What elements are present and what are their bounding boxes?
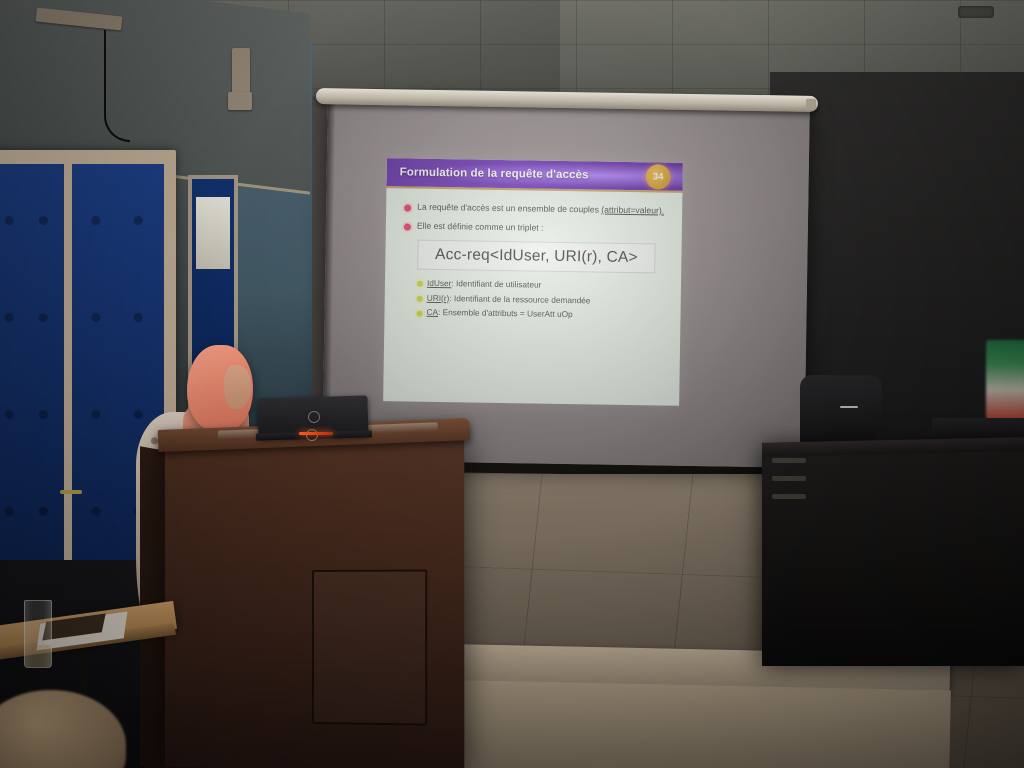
sub-item-uri-text: URI(r): Identifiant de la ressource dema… [427,292,591,305]
office-desk[interactable] [762,446,1024,666]
bullet-dot-icon [404,223,411,230]
window-light [196,197,230,269]
formula-box: Acc-req<IdUser, URI(r), CA> [417,239,655,273]
sub-item-ca-term: CA [426,307,438,317]
slide-bullet-2: Elle est définie comme un triplet : [404,220,664,236]
presenter-head [187,345,253,423]
slide-bullet-1: La requête d'accès est un ensemble de co… [404,201,664,217]
bullet-2-text: Elle est définie comme un triplet : [417,221,544,235]
sub-item-iduser-def: : Identifiant de utilisateur [451,278,541,289]
sub-item-uri-term: URI(r) [427,292,450,302]
chair-highlight [840,406,858,408]
glass-contents [25,645,51,667]
hp-logo-icon [308,411,320,423]
bullet-1-text: La requête d'accès est un ensemble de co… [417,202,664,218]
sub-item-iduser-text: IdUser: Identifiant de utilisateur [427,278,542,291]
slide-title-bar: Formulation de la requête d'accès 34 [386,158,682,193]
lectern-front-panel [312,570,427,726]
presenter-face [224,365,251,409]
bullet-dot-icon [404,204,411,211]
wall-switch-icon [232,48,250,94]
sub-item-uri: URI(r): Identifiant de la ressource dema… [417,292,663,307]
door-handle-icon[interactable] [60,490,82,494]
slide-sub-list: IdUser: Identifiant de utilisateur URI(r… [416,277,663,321]
sub-bullet-dot-icon [417,281,423,287]
sub-item-iduser-term: IdUser [427,278,452,288]
status-led-indicator [299,432,333,435]
flag [986,340,1024,420]
office-chair[interactable] [800,375,882,445]
sub-bullet-dot-icon [416,310,422,316]
projected-slide: Formulation de la requête d'accès 34 La … [383,158,683,406]
slide-body: La requête d'accès est un ensemble de co… [384,188,682,322]
formula-text: Acc-req<IdUser, URI(r), CA> [435,246,638,266]
projection-screen: Formulation de la requête d'accès 34 La … [322,100,810,468]
slide-title: Formulation de la requête d'accès [400,166,589,181]
door-leaf-left[interactable] [0,164,64,568]
ceiling-vent-icon [958,6,994,18]
bullet-1-line-1: La requête d'accès est un ensemble de co… [417,202,599,215]
sub-item-ca: CA: Ensemble d'attributs = UserAtt uOp [416,307,662,322]
sub-item-ca-text: CA: Ensemble d'attributs = UserAtt uOp [426,307,572,320]
sub-item-uri-def: : Identifiant de la ressource demandée [449,293,590,305]
sub-item-ca-def: : Ensemble d'attributs = UserAtt uOp [438,307,573,319]
desk-drawer-handle-icon[interactable] [772,458,806,463]
junction-box-icon [228,92,252,110]
roller-end-cap-icon [806,99,816,109]
conference-room-photo: Formulation de la requête d'accès 34 La … [0,0,1024,768]
bullet-1-line-2: (attribut=valeur). [601,205,664,216]
desk-drawer-handle-icon[interactable] [772,494,806,499]
drinking-glass [24,600,52,668]
sub-item-iduser: IdUser: Identifiant de utilisateur [417,277,663,292]
slide-number-badge: 34 [645,164,670,189]
hanging-cable [104,30,130,142]
sub-bullet-dot-icon [417,296,423,302]
desk-drawer-handle-icon[interactable] [772,476,806,481]
wooden-lectern [165,437,464,768]
